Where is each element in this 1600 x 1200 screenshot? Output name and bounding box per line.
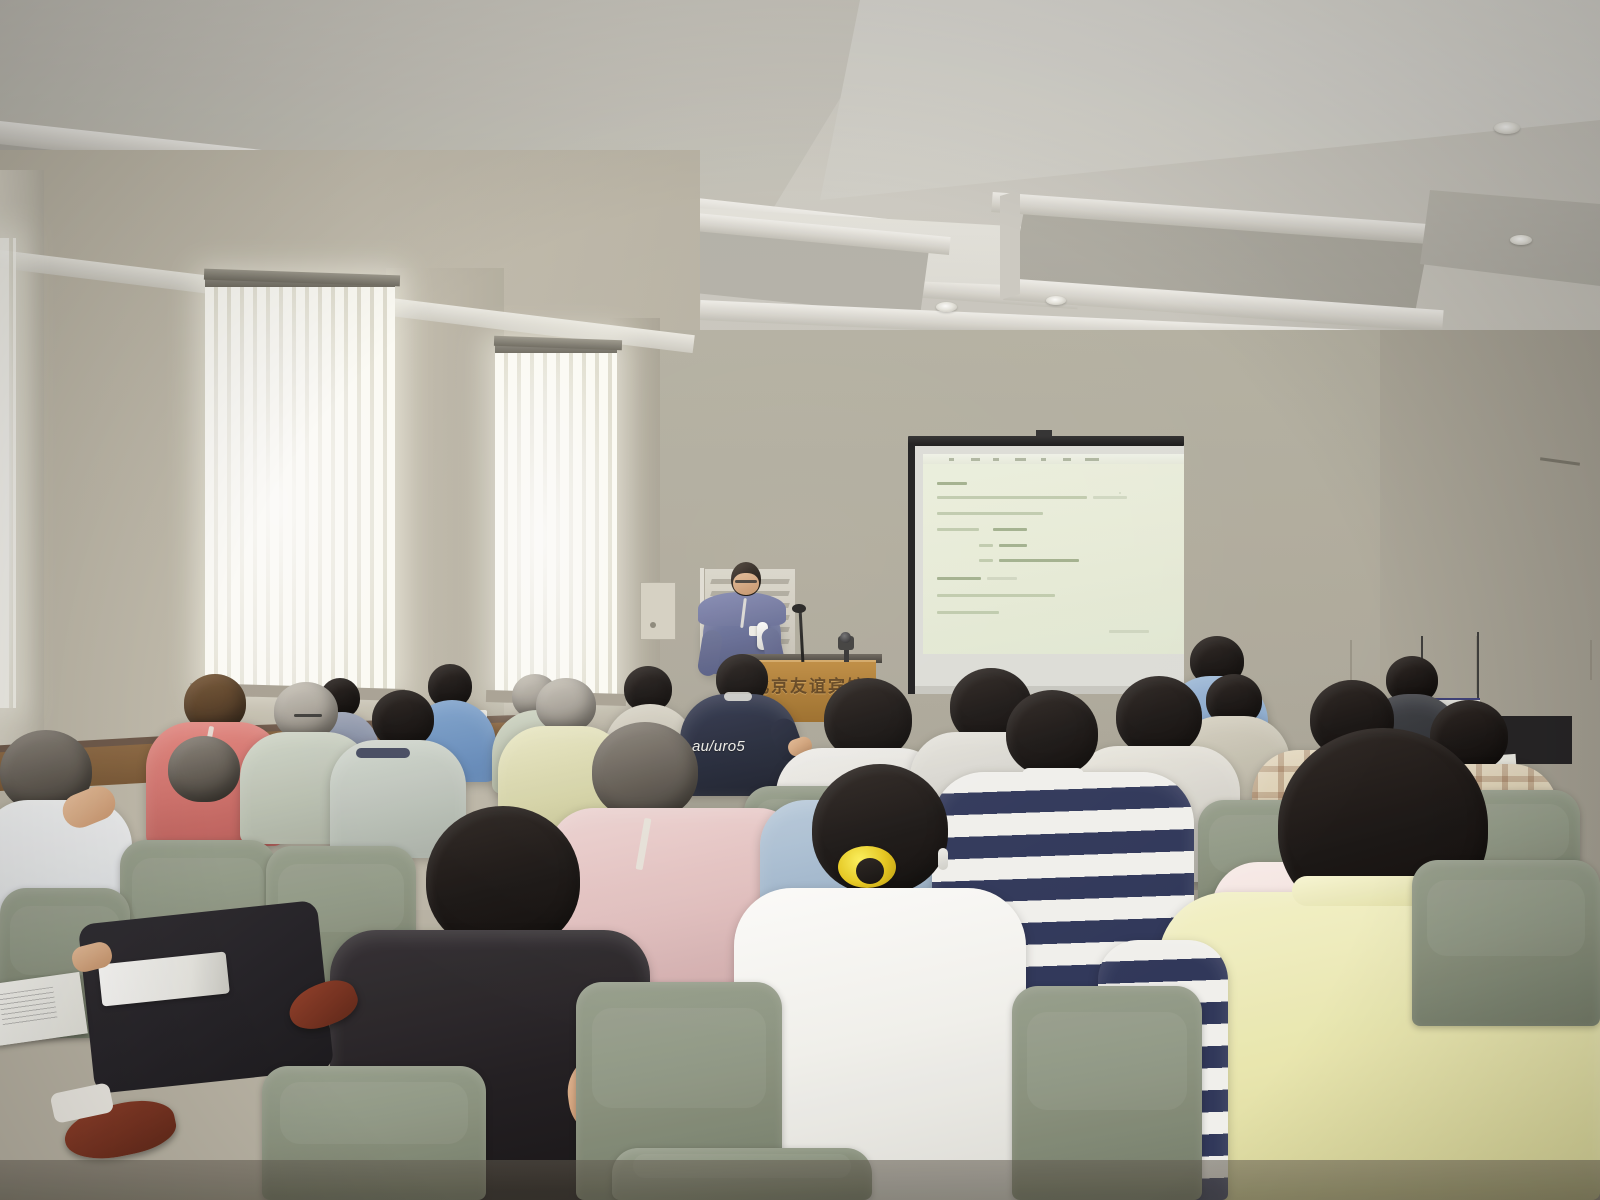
earring-icon	[938, 848, 948, 870]
screen-canvas	[915, 446, 1184, 686]
slide-heading	[937, 482, 967, 485]
screen-top-bar	[908, 436, 1184, 446]
attendee-collar-dark	[356, 748, 410, 758]
attendee-head-gray-3	[536, 678, 596, 732]
camera-post	[844, 648, 849, 662]
coffer-right-side	[1000, 190, 1020, 300]
tshirt-collar	[724, 692, 752, 701]
ceiling-plane-right	[820, 0, 1600, 200]
slide-line-2	[937, 512, 1043, 515]
slide-line-3a	[937, 528, 979, 531]
slide-line-5a	[979, 559, 993, 562]
tshirt-logo-text: au/uro5	[692, 738, 745, 755]
lecture-hall-photo: 北京友谊宾馆 au/uro5	[0, 0, 1600, 1200]
slide-subheading	[937, 577, 981, 580]
slide-line-4b	[999, 544, 1027, 547]
slide-footer	[1109, 630, 1149, 633]
slide-line-3b	[993, 528, 1027, 531]
glasses-icon	[735, 580, 757, 583]
projection-screen	[908, 436, 1184, 694]
camera-lens-icon	[840, 632, 851, 643]
speaker-face	[733, 573, 759, 595]
wall-control-panel	[640, 582, 676, 640]
window-right	[495, 343, 617, 695]
window-left	[205, 277, 395, 689]
microphone-head-icon	[792, 604, 806, 613]
panel-indicator-icon	[650, 622, 656, 628]
attendee-head-r3c	[1116, 676, 1202, 756]
open-booklet	[0, 972, 88, 1046]
slide-line-6b	[987, 577, 1017, 580]
wall-conduit-3	[1590, 640, 1592, 680]
attendee-head-pink-shirt	[592, 722, 698, 820]
slide-line-4a	[979, 544, 993, 547]
receiver-antenna-2	[1477, 632, 1479, 698]
slide-line-1	[937, 496, 1087, 499]
downlight-icon-10	[1510, 235, 1532, 245]
slide-line-1b	[1093, 496, 1127, 499]
slide-toolbar	[923, 454, 1184, 464]
projected-slide	[923, 454, 1184, 654]
slide-line-7	[937, 594, 1055, 597]
downlight-icon-9	[1494, 122, 1520, 134]
slide-dot	[1119, 492, 1121, 494]
floor	[0, 1160, 1600, 1200]
screen-left-edge	[908, 444, 915, 694]
hair-bun	[856, 858, 884, 884]
striped-polo-collar	[1022, 768, 1084, 782]
slide-line-8	[937, 611, 999, 614]
slide-line-5b	[999, 559, 1079, 562]
downlight-icon-5	[936, 302, 957, 312]
attendee-head-striped-polo	[1006, 690, 1098, 776]
window-sliver	[0, 238, 16, 708]
auditorium-chair-fg-5	[1412, 860, 1600, 1026]
attendee-head-left-glasses	[168, 736, 240, 802]
glasses-icon-gray1	[294, 714, 322, 717]
downlight-icon-6	[1046, 296, 1066, 305]
